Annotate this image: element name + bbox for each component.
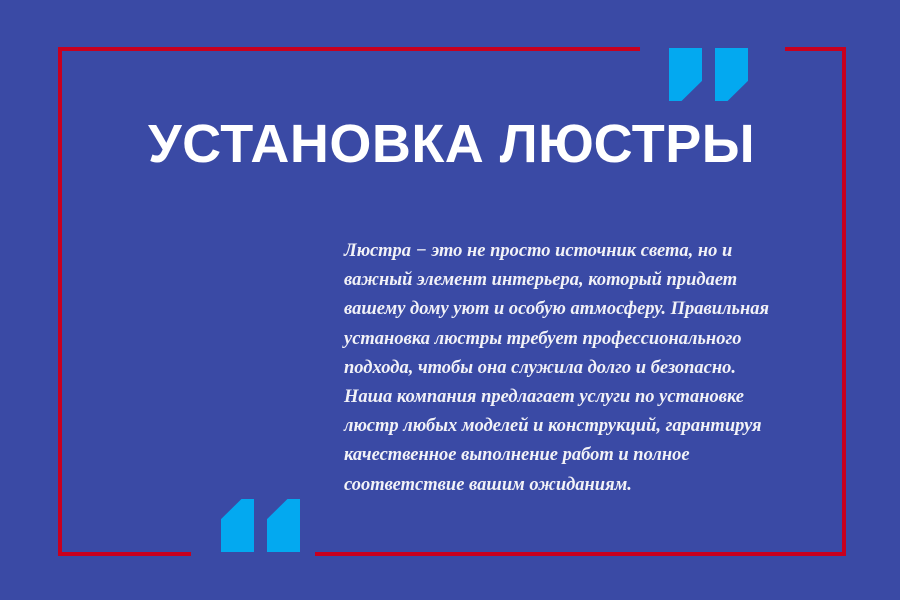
page-title: УСТАНОВКА ЛЮСТРЫ	[148, 117, 755, 171]
quote-bar-right	[267, 499, 300, 552]
quote-bar-left	[221, 499, 254, 552]
frame-border-top-right	[785, 47, 846, 51]
quote-bar-left	[669, 48, 702, 101]
frame-border-left	[58, 47, 62, 556]
promo-banner: УСТАНОВКА ЛЮСТРЫ Люстра − это не просто …	[0, 0, 900, 600]
frame-border-right	[842, 47, 846, 556]
frame-border-bottom-left	[58, 552, 191, 556]
frame-border-top-left	[58, 47, 640, 51]
quote-mark-opening-icon	[221, 499, 300, 552]
frame-border-bottom-right	[315, 552, 846, 556]
body-paragraph: Люстра − это не просто источник света, н…	[344, 237, 774, 500]
quote-mark-closing-icon	[669, 48, 748, 101]
quote-bar-right	[715, 48, 748, 101]
